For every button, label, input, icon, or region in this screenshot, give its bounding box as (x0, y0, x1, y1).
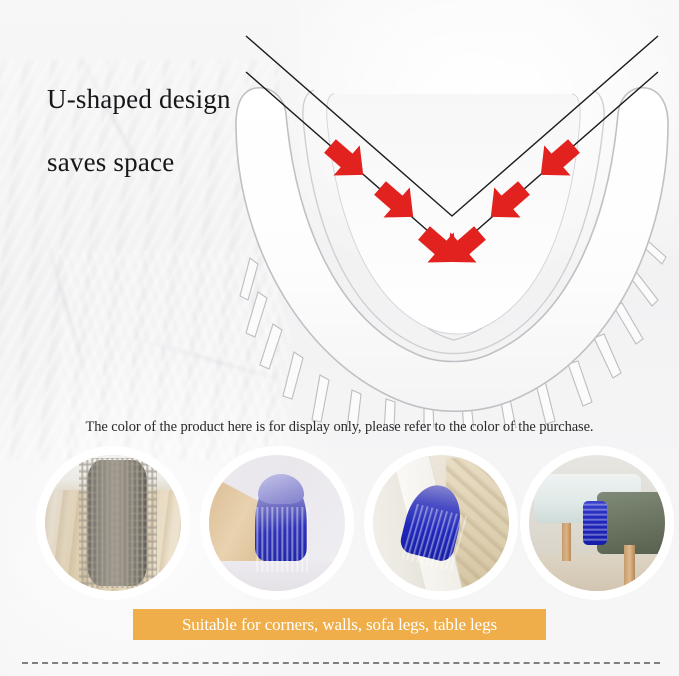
color-disclaimer: The color of the product here is for dis… (0, 419, 679, 436)
gray-groomer-bristles (79, 458, 157, 589)
dashed-divider (22, 662, 660, 664)
blue-groomer-bristles (254, 507, 308, 572)
thumbnail-image (373, 455, 509, 591)
product-infographic: U-shaped design saves space (0, 0, 679, 676)
thumbnail-blue-brush-on-white-corner[interactable] (368, 450, 514, 596)
furniture-leg (624, 545, 635, 589)
furniture-leg (562, 523, 572, 561)
thumbnail-row (38, 450, 670, 600)
thumbnail-image (45, 455, 181, 591)
thumbnail-image (529, 455, 665, 591)
headline-line-1: U-shaped design (47, 84, 231, 114)
suitability-banner: Suitable for corners, walls, sofa legs, … (133, 609, 546, 640)
thumbnail-blue-brush-on-wall-corner[interactable] (204, 450, 350, 596)
thumbnail-gray-brush-on-wood-corner[interactable] (40, 450, 186, 596)
thumbnail-image (209, 455, 345, 591)
blue-groomer-bristles (583, 503, 606, 544)
thumbnail-blue-brush-on-sofa-leg[interactable] (524, 450, 670, 596)
floor-surface (529, 556, 665, 591)
suitability-banner-text: Suitable for corners, walls, sofa legs, … (182, 615, 497, 635)
product-illustration (228, 28, 676, 428)
